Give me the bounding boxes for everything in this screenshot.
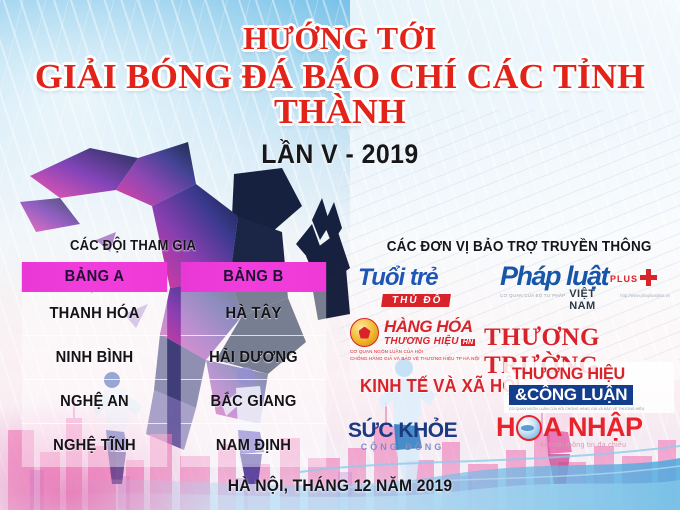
title-edition-year: LẦN V - 2019 — [27, 141, 653, 168]
hoa-nhap-letter-h: H — [496, 414, 515, 441]
cong-dong-subtitle: CỘNG ĐỒNG — [348, 442, 457, 452]
hang-hoa-wordmark-group: HÀNG HÓA THƯƠNG HIỆUHN — [384, 318, 475, 347]
phap-luat-top-row: Pháp luật PLUS — [500, 264, 670, 290]
hoa-nhap-wordmark-rest: A NHẬP — [543, 414, 643, 441]
title-line-2: GIẢI BÓNG ĐÁ BÁO CHÍ CÁC TỈNH THÀNH — [0, 59, 680, 129]
group-a-header: BẢNG A — [22, 262, 167, 292]
cong-luan-line-1: THƯƠNG HIỆU — [512, 365, 625, 382]
sponsor-logo-tuoi-tre-thu-do: Tuổi trẻ THỦ ĐÔ — [358, 266, 480, 308]
group-column-a: BẢNG A THANH HÓA NINH BÌNH NGHỆ AN NGHỆ … — [18, 262, 171, 467]
team-cell: NGHỆ AN — [22, 380, 167, 424]
hang-hoa-top-row: HÀNG HÓA THƯƠNG HIỆUHN — [350, 318, 500, 347]
sponsor-logo-hang-hoa-thuong-hieu: HÀNG HÓA THƯƠNG HIỆUHN CƠ QUAN NGÔN LUẬN… — [350, 318, 500, 361]
sponsor-logo-thuong-hieu-cong-luan: THƯƠNG HIỆU &CÔNG LUẬN CƠ QUAN NGÔN LUẬN… — [504, 362, 674, 415]
phap-luat-sub-row: CƠ QUAN CỦA BỘ TƯ PHÁP VIỆT NAM http://w… — [500, 288, 670, 312]
phap-luat-wordmark: Pháp luật — [500, 264, 608, 290]
teams-section-heading: CÁC ĐỘI THAM GIA — [70, 238, 196, 254]
tuoi-tre-wordmark: Tuổi trẻ — [358, 266, 480, 290]
hoa-nhap-wordmark-row: H A NHẬP — [496, 414, 671, 441]
teams-table: BẢNG A THANH HÓA NINH BÌNH NGHỆ AN NGHỆ … — [18, 262, 330, 467]
cong-luan-tagline: CƠ QUAN NGÔN LUẬN CỦA HỘI CHỐNG HÀNG GIẢ… — [509, 407, 669, 411]
poster-footer-date: HÀ NỘI, THÁNG 12 NĂM 2019 — [27, 476, 653, 496]
team-cell: BẮC GIANG — [181, 380, 326, 424]
team-cell: NAM ĐỊNH — [181, 424, 326, 467]
plus-label: PLUS — [610, 274, 638, 284]
hn-badge: HN — [461, 339, 476, 346]
team-cell: THANH HÓA — [22, 292, 167, 336]
team-cell: HÀ TÂY — [181, 292, 326, 336]
kinh-te-wordmark: KINH TẾ VÀ XÃ HỘI — [360, 376, 520, 397]
suc-khoe-wordmark: SỨC KHỎE — [348, 420, 457, 441]
group-column-b: BẢNG B HÀ TÂY HẢI DƯƠNG BẮC GIANG NAM ĐỊ… — [177, 262, 330, 467]
phap-luat-url: http://www.phapluatplus.vn — [620, 293, 670, 298]
sponsor-logo-kinh-te-va-xa-hoi: KINH TẾ VÀ XÃ HỘI — [354, 376, 526, 397]
team-cell: HẢI DƯƠNG — [181, 336, 326, 380]
group-b-header: BẢNG B — [181, 262, 326, 292]
sponsor-logo-suc-khoe-cong-dong: SỨC KHỎE CỘNG ĐỒNG — [348, 420, 457, 452]
phap-luat-tagline: CƠ QUAN CỦA BỘ TƯ PHÁP — [500, 293, 565, 298]
cong-luan-line-2: &CÔNG LUẬN — [509, 385, 633, 405]
sponsor-logo-phap-luat-plus: Pháp luật PLUS CƠ QUAN CỦA BỘ TƯ PHÁP VI… — [500, 264, 670, 312]
gold-seal-icon — [350, 318, 379, 347]
hang-hoa-tagline-2: CHỐNG HÀNG GIẢ VÀ BẢO VỆ THƯƠNG HIỆU TP … — [350, 356, 500, 361]
thu-do-banner: THỦ ĐÔ — [381, 294, 451, 307]
hang-hoa-wordmark: HÀNG HÓA — [384, 317, 473, 336]
medical-cross-icon — [640, 269, 657, 286]
sponsor-logo-hoa-nhap: H A NHẬP kết nối thông tin đa chiều — [496, 414, 671, 449]
poster-title-block: HƯỚNG TỚI GIẢI BÓNG ĐÁ BÁO CHÍ CÁC TỈNH … — [0, 22, 680, 168]
sponsor-logo-grid: Tuổi trẻ THỦ ĐÔ Pháp luật PLUS CƠ QUAN C… — [344, 262, 674, 467]
poster-canvas: HƯỚNG TỚI GIẢI BÓNG ĐÁ BÁO CHÍ CÁC TỈNH … — [0, 0, 680, 510]
thuong-hieu-text: THƯƠNG HIỆU — [384, 336, 459, 347]
sponsors-section-heading: CÁC ĐƠN VỊ BẢO TRỢ TRUYỀN THÔNG — [387, 238, 652, 255]
hoa-nhap-tagline: kết nối thông tin đa chiều — [496, 442, 671, 449]
thuong-hieu-wordmark: THƯƠNG HIỆUHN — [384, 337, 475, 347]
phap-luat-country: VIỆT NAM — [569, 288, 616, 312]
cong-luan-box: THƯƠNG HIỆU &CÔNG LUẬN CƠ QUAN NGÔN LUẬN… — [504, 362, 674, 413]
team-cell: NINH BÌNH — [22, 336, 167, 380]
team-cell: NGHỆ TĨNH — [22, 424, 167, 467]
globe-icon — [516, 415, 542, 441]
hang-hoa-tagline-1: CƠ QUAN NGÔN LUẬN CỦA HỘI — [350, 349, 500, 354]
title-line-1: HƯỚNG TỚI — [0, 22, 680, 54]
